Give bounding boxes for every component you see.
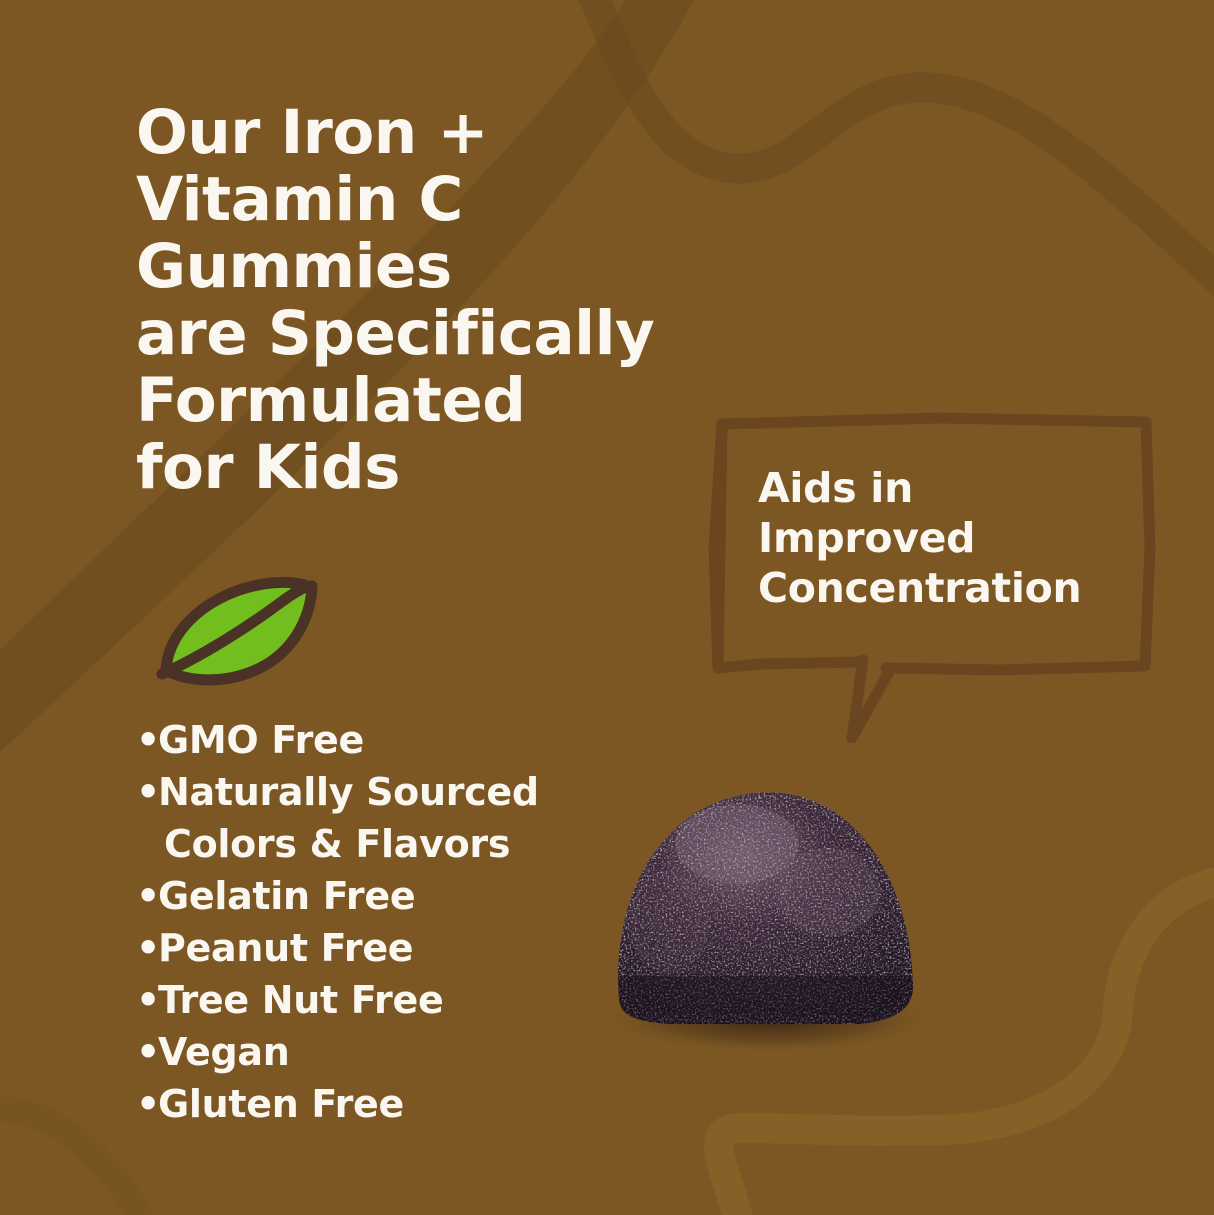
squiggle-bottom-left bbox=[0, 1108, 140, 1215]
headline-line-4: are Specifically bbox=[136, 300, 836, 367]
bubble-line-1: Aids in bbox=[758, 463, 1148, 513]
bullet-label-continuation: Colors & Flavors bbox=[158, 818, 606, 870]
bullet-label: GMO Free bbox=[158, 718, 364, 762]
list-item: Naturally Sourced Colors & Flavors bbox=[136, 766, 606, 870]
bullet-label: Naturally Sourced bbox=[158, 770, 539, 814]
leaf-icon bbox=[152, 566, 352, 694]
list-item: Gelatin Free bbox=[136, 870, 606, 922]
headline-line-1: Our Iron + bbox=[136, 99, 836, 166]
list-item: Vegan bbox=[136, 1026, 606, 1078]
bubble-tail-path bbox=[852, 660, 890, 738]
feature-bullet-list: GMO Free Naturally Sourced Colors & Flav… bbox=[136, 714, 606, 1130]
headline-line-2: Vitamin C bbox=[136, 166, 836, 233]
list-item: Gluten Free bbox=[136, 1078, 606, 1130]
bubble-text: Aids in Improved Concentration bbox=[758, 463, 1148, 613]
headline-line-3: Gummies bbox=[136, 233, 836, 300]
list-item: Peanut Free bbox=[136, 922, 606, 974]
bubble-line-2: Improved bbox=[758, 513, 1148, 563]
gummy-candy-illustration bbox=[597, 752, 937, 1052]
bullet-label: Tree Nut Free bbox=[158, 978, 443, 1022]
bullet-label: Gluten Free bbox=[158, 1082, 404, 1126]
list-item: GMO Free bbox=[136, 714, 606, 766]
bullet-label: Gelatin Free bbox=[158, 874, 415, 918]
bullet-label: Vegan bbox=[158, 1030, 290, 1074]
speech-bubble: Aids in Improved Concentration bbox=[700, 398, 1160, 743]
product-benefits-poster: Our Iron + Vitamin C Gummies are Specifi… bbox=[0, 0, 1214, 1215]
bullet-label: Peanut Free bbox=[158, 926, 413, 970]
list-item: Tree Nut Free bbox=[136, 974, 606, 1026]
gummy-candy-photo bbox=[597, 752, 937, 1052]
bubble-line-3: Concentration bbox=[758, 563, 1148, 613]
leaf-icon-wrapper bbox=[152, 566, 352, 694]
